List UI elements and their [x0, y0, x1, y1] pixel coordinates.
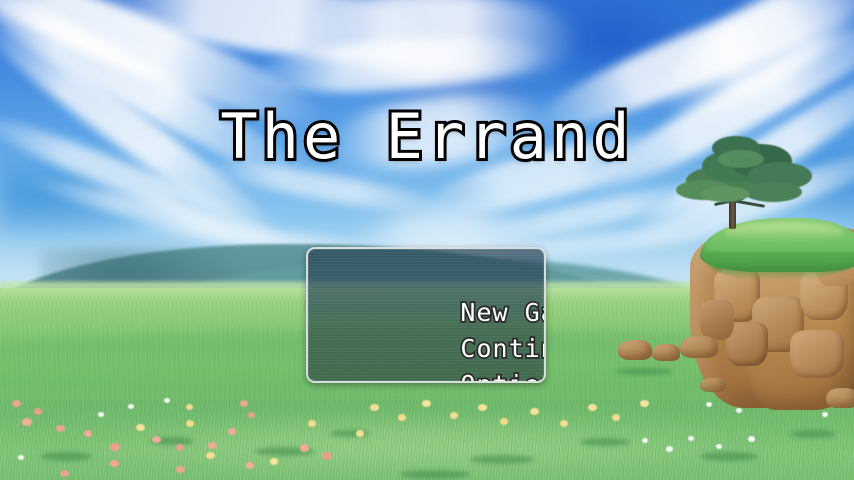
flower-yellow: [450, 412, 458, 419]
flower-white: [666, 446, 673, 452]
flower-yellow: [270, 458, 278, 465]
flower-pink: [248, 412, 255, 418]
flower-pink: [152, 436, 161, 443]
flower-pink: [110, 443, 120, 451]
rock-facet: [790, 330, 844, 378]
flower-white: [642, 438, 648, 443]
flower-white: [716, 444, 722, 449]
flower-pink: [322, 452, 332, 460]
ground-rock: [680, 336, 718, 358]
menu-item-label: Continue: [460, 334, 546, 363]
flower-white: [736, 408, 742, 413]
grass-tuft: [615, 368, 673, 375]
flower-pink: [176, 444, 184, 451]
flower-yellow: [398, 414, 406, 421]
flower-yellow: [308, 420, 316, 427]
flower-yellow: [530, 408, 539, 415]
flower-pink: [110, 460, 119, 467]
command-window: New Game Continue Options: [306, 247, 546, 383]
flower-white: [748, 436, 755, 442]
grass-tuft: [790, 430, 836, 438]
menu-item-new-game[interactable]: New Game: [308, 259, 544, 295]
flower-pink: [22, 418, 32, 426]
ground-rock: [700, 378, 726, 392]
flower-pink: [84, 430, 92, 437]
flower-white: [164, 398, 170, 403]
grass-tuft: [330, 430, 370, 437]
flower-pink: [56, 425, 65, 432]
game-title: The Errand: [0, 101, 854, 173]
grass-tuft: [400, 470, 470, 479]
flower-pink: [240, 400, 248, 407]
flower-pink: [208, 442, 217, 449]
flower-yellow: [136, 424, 145, 431]
flower-pink: [246, 462, 254, 469]
flower-pink: [60, 470, 69, 477]
flower-pink: [300, 444, 309, 452]
flower-white: [688, 436, 694, 441]
title-screen: The Errand New Game Continue Options: [0, 0, 854, 480]
grass-tuft: [470, 455, 534, 464]
flower-yellow: [186, 420, 194, 427]
flower-yellow: [588, 404, 597, 411]
flower-yellow: [612, 414, 620, 421]
flower-white: [18, 455, 24, 460]
flower-pink: [12, 400, 21, 407]
menu-item-label: Options: [460, 370, 546, 383]
tree-canopy: [744, 182, 802, 202]
grass-tuft: [40, 452, 92, 461]
flower-yellow: [422, 400, 431, 407]
flower-yellow: [500, 418, 508, 425]
flower-white: [128, 404, 134, 409]
flower-yellow: [206, 452, 215, 459]
flower-yellow: [560, 420, 568, 427]
grass-texture-foreground: [0, 400, 854, 480]
flower-yellow: [356, 430, 364, 437]
cliff-grass-highlight: [724, 222, 844, 242]
flower-yellow: [640, 400, 649, 407]
flower-yellow: [478, 404, 487, 411]
flower-yellow: [370, 404, 379, 411]
ground-rock: [618, 340, 652, 360]
flower-white: [822, 412, 828, 417]
grass-tuft: [580, 438, 630, 446]
flower-white: [98, 412, 104, 417]
flower-pink: [176, 466, 185, 473]
rock-facet: [700, 300, 734, 340]
ground-rock: [826, 388, 854, 408]
flower-yellow: [186, 404, 193, 410]
flower-pink: [228, 428, 236, 435]
flower-pink: [34, 408, 42, 415]
flower-white: [706, 402, 712, 407]
tree-canopy: [700, 186, 750, 202]
grass-tuft: [700, 452, 758, 461]
menu-item-label: New Game: [460, 298, 546, 327]
command-list: New Game Continue Options: [308, 259, 544, 367]
ground-rock: [652, 344, 680, 361]
